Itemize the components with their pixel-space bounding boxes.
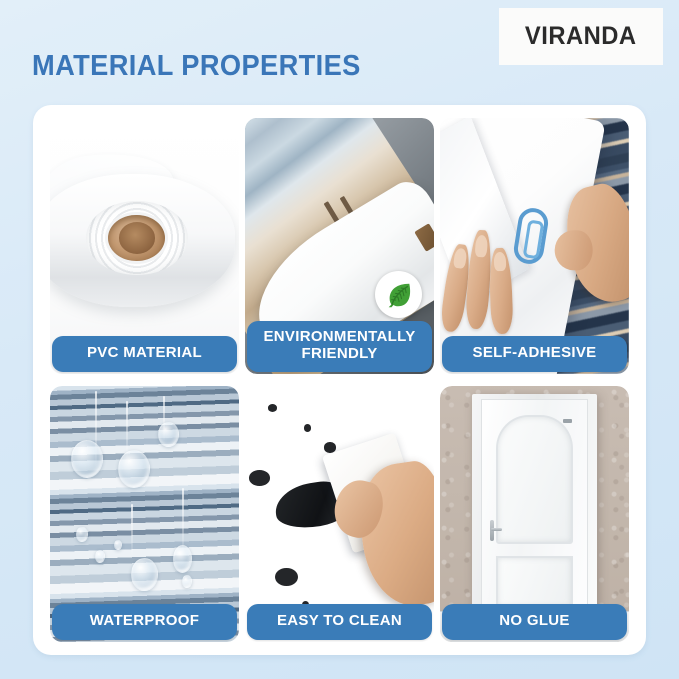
brand-logo-box: VIRANDA [499,8,663,65]
door-leaf [481,399,588,615]
feature-card-pvc-material[interactable]: PVC MATERIAL [50,118,239,374]
left-hand [444,226,527,339]
door-panel-upper [496,415,574,544]
feature-card-waterproof[interactable]: WATERPROOF [50,386,239,642]
features-panel: PVC MATERIAL [33,105,646,655]
feature-card-no-glue[interactable]: NO GLUE [440,386,629,642]
feature-card-easy-to-clean[interactable]: EASY TO CLEAN [245,386,434,642]
feature-label-no-glue: NO GLUE [442,604,627,640]
feature-label-environmentally-friendly: ENVIRONMENTALLY FRIENDLY [247,321,432,372]
feature-label-line2: FRIENDLY [301,345,377,362]
feature-label-waterproof: WATERPROOF [52,604,237,640]
page-title: MATERIAL PROPERTIES [32,50,361,83]
pvc-roll-core-inner [119,222,155,254]
pvc-roll-shape [50,174,235,307]
feature-label-line1: ENVIRONMENTALLY [263,328,415,345]
door-frame [472,394,597,619]
features-grid: PVC MATERIAL [50,118,629,642]
door-panel-lower [496,556,574,607]
feature-label-self-adhesive: SELF-ADHESIVE [442,336,627,372]
door-marking [563,419,572,422]
header: MATERIAL PROPERTIES VIRANDA [0,0,679,105]
hand-holding-cloth [353,457,434,611]
feature-card-environmentally-friendly[interactable]: ENVIRONMENTALLY FRIENDLY [245,118,434,374]
door-handle [486,520,502,541]
feature-label-pvc-material: PVC MATERIAL [52,336,237,372]
feature-card-self-adhesive[interactable]: SELF-ADHESIVE [440,118,629,374]
feature-label-easy-to-clean: EASY TO CLEAN [247,604,432,640]
leaf-icon [375,271,422,318]
brand-name: VIRANDA [525,22,637,51]
